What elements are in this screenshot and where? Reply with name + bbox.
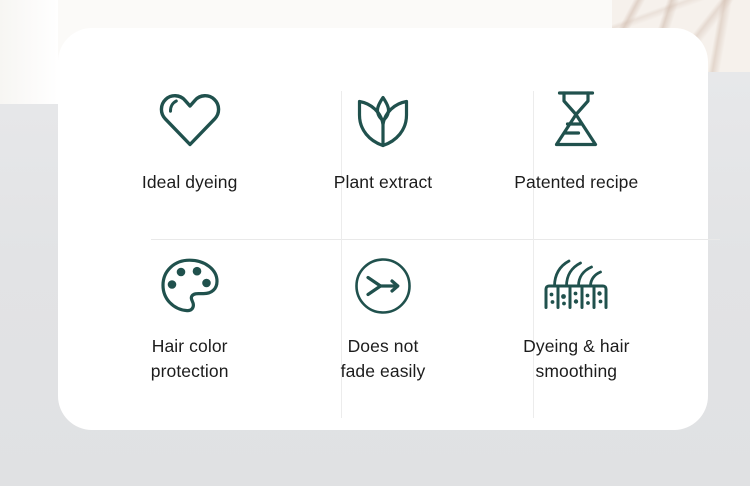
feature-grid: Ideal dyeing Plant extract	[93, 63, 673, 393]
merge-arrow-circle-icon	[346, 252, 420, 320]
tulip-icon	[346, 86, 420, 154]
feature-card: Ideal dyeing Plant extract	[58, 28, 708, 430]
feature-label: Hair color protection	[151, 334, 229, 384]
feature-item-dyeing-and-hair-smoothing: Dyeing & hair smoothing	[480, 228, 673, 393]
feature-label: Plant extract	[334, 170, 433, 195]
feature-item-hair-color-protection: Hair color protection	[93, 228, 286, 393]
feature-item-patented-recipe: Patented recipe	[480, 63, 673, 228]
feature-item-plant-extract: Plant extract	[286, 63, 479, 228]
background-left-seam	[0, 0, 58, 104]
feature-label: Patented recipe	[514, 170, 638, 195]
flask-icon	[539, 86, 613, 154]
feature-label: Ideal dyeing	[142, 170, 238, 195]
feature-label: Does not fade easily	[341, 334, 426, 384]
palette-icon	[153, 252, 227, 320]
feature-item-ideal-dyeing: Ideal dyeing	[93, 63, 286, 228]
heart-icon	[153, 86, 227, 154]
feature-label: Dyeing & hair smoothing	[523, 334, 629, 384]
scalp-hair-icon	[539, 252, 613, 320]
feature-panel-screenshot: Ideal dyeing Plant extract	[0, 0, 750, 486]
feature-item-does-not-fade-easily: Does not fade easily	[286, 228, 479, 393]
